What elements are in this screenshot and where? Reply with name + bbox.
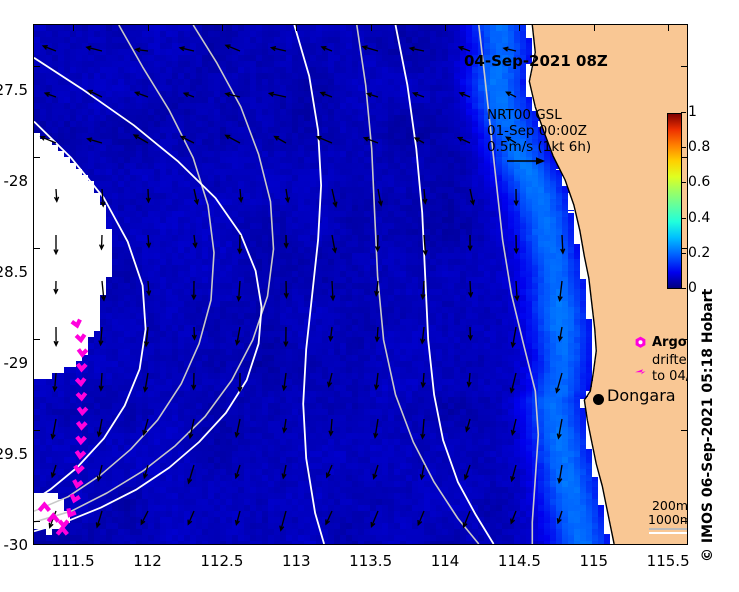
current-vector-arrow <box>236 327 240 344</box>
current-vector-arrow <box>371 511 378 527</box>
city-label-dongara: Dongara <box>607 386 676 405</box>
vector-key-line3: 0.5m/s (1kt 6h) <box>487 139 591 155</box>
current-vector-arrow <box>418 511 424 525</box>
sst-variance-map-figure: -27.5-28-28.5-29-29.5-30 04-Sep-2021 08Z… <box>0 0 739 592</box>
x-tick-mark-top <box>296 24 297 31</box>
x-tick-label: 112 <box>133 552 162 570</box>
current-vector-arrow <box>421 281 425 299</box>
current-vector-arrow <box>326 511 332 524</box>
x-tick-mark-top <box>519 24 520 31</box>
current-vector-arrow <box>283 419 287 432</box>
current-vector-arrow <box>378 189 382 205</box>
current-vector-arrow <box>413 93 424 97</box>
x-tick-label: 113.5 <box>349 552 392 570</box>
current-vector-arrow <box>515 281 519 300</box>
current-vector-arrow <box>469 281 473 296</box>
current-vector-arrow <box>193 235 197 247</box>
x-tick-mark-top <box>148 24 149 31</box>
current-vector-arrow <box>144 465 148 478</box>
x-tick-label: 111.5 <box>52 552 95 570</box>
x-axis: 111.5112112.5113113.5114114.5115115.5 <box>33 546 688 576</box>
date-stamp: 04-Sep-2021 08Z <box>464 52 608 70</box>
colorbar-tick-label: 1 <box>688 104 697 120</box>
drifter-chevron <box>57 528 67 534</box>
colorbar-tick-label: 0.8 <box>688 139 710 155</box>
current-vector-arrow <box>98 419 103 436</box>
legend-row-argo: Argo <box>634 335 687 351</box>
drifter-chevron <box>78 408 86 413</box>
current-vector-arrow <box>374 419 378 437</box>
current-vector-arrow <box>184 93 194 97</box>
current-vector-arrow <box>511 511 516 523</box>
y-tick-mark <box>33 430 40 431</box>
x-tick-label: 115 <box>579 552 608 570</box>
y-tick-mark <box>33 66 40 67</box>
current-vector-arrow <box>147 235 151 247</box>
x-tick-mark-top <box>445 24 446 31</box>
colorbar <box>667 113 682 289</box>
y-tick-mark <box>33 339 40 340</box>
colorbar-tick <box>681 147 686 148</box>
current-vector-arrow <box>101 281 105 300</box>
y-tick-label: -27.5 <box>0 81 28 99</box>
drifter-track <box>39 320 86 535</box>
current-vector-arrow <box>468 235 472 250</box>
current-vector-arrow <box>284 327 288 346</box>
current-vector-arrow <box>194 189 198 204</box>
drifter-chevron <box>76 379 84 384</box>
current-vector-arrow <box>284 235 288 247</box>
drifter-chevron <box>72 320 80 326</box>
y-tick-mark <box>681 157 688 158</box>
current-vector-arrow <box>55 189 59 201</box>
depth-label-200m: 200m <box>648 499 688 513</box>
current-vector-arrow <box>504 47 516 51</box>
current-vector-arrow <box>511 419 516 435</box>
depth-contour-200m <box>357 25 479 544</box>
colorbar-tick-label: 0.2 <box>688 245 710 261</box>
current-vector-arrow <box>99 327 103 345</box>
current-vector-arrow <box>460 93 470 97</box>
x-tick-mark-top <box>594 24 595 31</box>
current-vector-arrow <box>511 465 516 481</box>
current-vector-arrow <box>282 465 286 478</box>
y-tick-mark <box>33 248 40 249</box>
drifter-chevron <box>74 480 82 486</box>
y-tick-label: -29 <box>4 354 29 372</box>
current-vector-arrow <box>100 235 104 249</box>
argo-float-marker-icon <box>634 336 647 349</box>
current-vector-arrow <box>423 189 427 203</box>
current-vector-arrow <box>332 189 337 206</box>
current-vector-arrow <box>236 511 241 525</box>
drifter-chevron <box>78 364 87 369</box>
depth-label-1000m: 1000m <box>648 513 688 527</box>
colorbar-tick <box>681 182 686 183</box>
current-vector-arrow <box>561 235 565 253</box>
current-vector-arrow <box>510 373 516 392</box>
current-vector-arrow <box>557 419 562 438</box>
current-vector-arrow <box>280 511 286 530</box>
y-tick-mark <box>681 66 688 67</box>
y-tick-label: -28 <box>4 172 29 190</box>
current-vector-arrow <box>88 91 102 98</box>
x-tick-mark-top <box>668 24 669 31</box>
drifter-chevron <box>76 451 84 456</box>
depth-contour-200m <box>34 25 214 511</box>
current-vector-arrow <box>188 465 194 483</box>
current-vector-arrow <box>45 93 56 97</box>
drifter-chevron <box>48 516 58 522</box>
drifter-chevron <box>60 521 69 526</box>
current-vector-arrow <box>467 373 471 386</box>
drifter-chevron <box>76 335 85 340</box>
depth-key-line-200m <box>649 528 688 530</box>
y-tick-label: -30 <box>4 536 29 554</box>
vector-key-line2: 01-Sep 00:00Z <box>487 123 591 139</box>
x-tick-mark-top <box>73 24 74 31</box>
colorbar-tick <box>681 218 686 219</box>
vector-key-line1: NRT00 GSL <box>487 107 591 123</box>
current-vector-arrow <box>375 373 379 389</box>
drifter-arrow-icon <box>634 365 647 378</box>
current-vector-arrow <box>458 138 470 144</box>
current-vector-arrow <box>375 327 379 341</box>
current-vector-arrow <box>465 465 470 479</box>
current-vector-arrow <box>226 45 240 51</box>
depth-contour-200m <box>479 25 539 544</box>
current-vector-arrow <box>96 511 102 527</box>
current-vector-arrow <box>329 419 333 435</box>
current-vector-arrow <box>269 92 286 97</box>
map-overlay-vectors <box>34 25 687 544</box>
current-vector-arrow <box>421 373 425 387</box>
current-vector-arrow <box>421 327 425 343</box>
current-vector-arrow <box>463 511 470 527</box>
current-vector-arrow <box>321 92 332 97</box>
current-vector-arrow <box>181 137 194 144</box>
current-vector-arrow <box>511 327 516 347</box>
x-tick-label: 114 <box>431 552 460 570</box>
current-vector-arrow <box>558 281 562 301</box>
current-vector-arrow <box>238 373 242 391</box>
current-vector-arrow <box>331 281 335 300</box>
current-vector-arrow <box>226 135 240 143</box>
current-vector-arrow <box>468 327 472 339</box>
current-vector-arrow <box>43 46 56 51</box>
current-vector-arrow <box>410 47 424 51</box>
current-vector-arrow <box>275 137 286 144</box>
current-vector-arrow <box>238 235 242 253</box>
depth-contour-1000m <box>396 25 494 544</box>
colorbar-tick-label: 0.6 <box>688 174 710 190</box>
current-vector-arrow <box>235 419 240 437</box>
current-vector-arrow <box>180 47 194 51</box>
current-vector-arrow <box>507 92 517 97</box>
y-tick-mark <box>33 157 40 158</box>
y-tick-mark <box>681 521 688 522</box>
current-vector-arrow <box>192 373 196 389</box>
drifter-legend-line1: drifters@6h <box>652 353 688 369</box>
current-vector-arrow <box>322 47 332 51</box>
sst-data-layer <box>34 25 687 544</box>
y-tick-mark <box>681 248 688 249</box>
current-vector-arrow <box>332 235 336 252</box>
current-vector-arrow <box>514 235 518 253</box>
depth-contour-1000m <box>34 58 262 532</box>
current-vector-arrow <box>99 373 103 390</box>
y-tick-mark <box>681 430 688 431</box>
current-vector-arrow <box>54 281 58 293</box>
current-vector-arrow <box>192 281 196 299</box>
legend-label-argo: Argo <box>652 335 687 351</box>
colorbar-tick-label: 0 <box>688 280 697 296</box>
drifter-legend-text: drifters@6h to 04/09 12Z <box>652 353 688 384</box>
current-vector-arrow <box>52 465 57 477</box>
x-tick-mark-top <box>371 24 372 31</box>
current-vector-arrow <box>466 419 470 431</box>
current-vector-arrow <box>556 373 562 392</box>
drifter-chevron <box>77 437 86 442</box>
current-vector-arrow <box>285 189 289 202</box>
credit-text: © IMOS 06-Sep-2021 05:18 Hobart <box>700 262 716 562</box>
current-vector-arrow <box>188 511 194 524</box>
drifter-legend-line2: to 04/09 12Z <box>652 369 688 385</box>
current-vector-arrow <box>282 373 286 390</box>
drifter-chevron <box>78 349 86 354</box>
current-vector-arrow <box>147 281 151 295</box>
current-vector-arrow <box>557 511 562 523</box>
y-tick-label: -28.5 <box>0 263 28 281</box>
drifter-chevron <box>72 494 80 500</box>
x-tick-label: 113 <box>282 552 311 570</box>
colorbar-tick <box>681 288 686 289</box>
current-vector-arrow <box>144 373 148 391</box>
current-vector-arrow <box>192 327 196 339</box>
y-axis: -27.5-28-28.5-29-29.5-30 <box>0 24 28 545</box>
current-vector-arrow <box>329 327 333 340</box>
y-tick-mark <box>33 521 40 522</box>
y-tick-label: -29.5 <box>0 445 28 463</box>
current-vector-arrow <box>415 138 424 143</box>
current-vector-arrow <box>51 419 56 438</box>
current-vector-arrow <box>558 465 562 483</box>
x-tick-label: 114.5 <box>498 552 541 570</box>
current-vector-arrow <box>459 47 470 51</box>
x-tick-label: 115.5 <box>647 552 690 570</box>
depth-contour-key: 200m 1000m <box>648 499 688 527</box>
current-vector-arrow <box>141 511 148 524</box>
drifter-chevron <box>77 393 86 398</box>
right-arrow-icon <box>506 155 546 167</box>
current-vector-arrow <box>146 189 150 202</box>
current-vector-arrow <box>271 47 286 51</box>
current-vector-arrow <box>367 93 378 97</box>
current-vector-arrow <box>470 189 474 204</box>
colorbar-tick <box>681 253 686 254</box>
colorbar-tick <box>681 112 686 113</box>
depth-contour-1000m <box>294 25 324 544</box>
current-vector-arrow <box>239 189 243 202</box>
current-vector-arrow <box>54 235 58 254</box>
current-vector-arrow <box>420 465 424 479</box>
x-tick-label: 112.5 <box>200 552 243 570</box>
current-vector-arrow <box>421 419 425 438</box>
current-vector-arrow <box>53 373 57 391</box>
current-vector-arrow <box>97 465 102 480</box>
x-tick-mark-top <box>222 24 223 31</box>
depth-key-line-1000m <box>649 532 688 534</box>
city-dot-icon <box>593 394 604 405</box>
current-vector-arrow <box>558 327 562 341</box>
current-vector-arrow <box>87 46 102 51</box>
current-vector-arrow <box>135 92 148 97</box>
colorbar-tick-label: 0.4 <box>688 210 710 226</box>
depth-contour-1000m <box>34 122 146 501</box>
current-vector-arrow <box>284 281 288 297</box>
current-vector-arrow <box>363 46 378 51</box>
current-vector-arrow <box>328 373 332 386</box>
current-vector-arrow <box>88 138 102 143</box>
y-tick-mark <box>681 339 688 340</box>
depth-contour-200m <box>34 25 274 522</box>
current-vector-arrow <box>327 465 332 477</box>
current-vector-arrow <box>136 48 148 52</box>
current-vector-arrow <box>237 281 241 300</box>
map-plot-area[interactable]: 04-Sep-2021 08Z NRT00 GSL 01-Sep 00:00Z … <box>33 24 688 545</box>
current-vector-arrow <box>235 465 240 478</box>
drifter-chevron <box>75 466 84 471</box>
vector-key-text: NRT00 GSL 01-Sep 00:00Z 0.5m/s (1kt 6h) <box>487 107 591 155</box>
current-vector-arrow <box>54 327 58 345</box>
current-vector-arrow <box>514 189 518 205</box>
current-vector-arrow <box>373 465 378 478</box>
drifter-chevron <box>78 422 87 427</box>
